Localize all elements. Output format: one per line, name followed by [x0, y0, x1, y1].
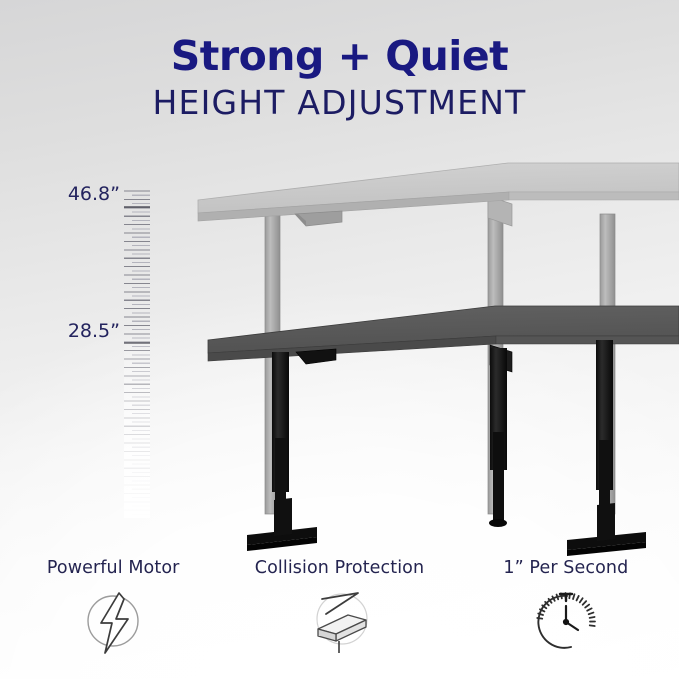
headline-primary: Strong + Quiet — [0, 36, 679, 77]
feature-powerful-motor: Powerful Motor — [0, 558, 226, 679]
lowered-desk-left-leg — [247, 352, 317, 551]
lowered-desk-right-leg — [567, 340, 646, 556]
collision-bounce-icon — [300, 587, 378, 659]
ruler-min-label: 28.5” — [46, 320, 120, 342]
product-feature-graphic: Strong + Quiet HEIGHT ADJUSTMENT — [0, 0, 679, 679]
raised-l-desk — [198, 163, 679, 514]
lowered-desk-corner-leg — [489, 348, 507, 527]
feature-label: 1” Per Second — [503, 558, 628, 578]
height-range-ruler: 46.8” 28.5” — [46, 178, 156, 523]
feature-row: Powerful Motor Collision Protection — [0, 558, 679, 679]
feature-label: Collision Protection — [255, 558, 424, 578]
lowered-l-desk — [208, 306, 679, 556]
ruler-tick-strip — [124, 188, 150, 518]
feature-label: Powerful Motor — [47, 558, 180, 578]
headline-block: Strong + Quiet HEIGHT ADJUSTMENT — [0, 36, 679, 119]
headline-secondary: HEIGHT ADJUSTMENT — [0, 86, 679, 119]
feature-collision-protection: Collision Protection — [226, 558, 452, 679]
stopwatch-icon — [527, 587, 605, 659]
raised-desk-surface — [198, 163, 679, 213]
ruler-max-label: 46.8” — [46, 183, 120, 205]
raised-desk-control-panel — [295, 211, 342, 226]
raised-desk-legs — [265, 196, 615, 514]
feature-speed: 1” Per Second — [453, 558, 679, 679]
lowered-desk-surface — [208, 306, 679, 353]
lowered-desk-control-panel — [296, 349, 336, 364]
lightning-bolt-icon — [74, 587, 152, 659]
